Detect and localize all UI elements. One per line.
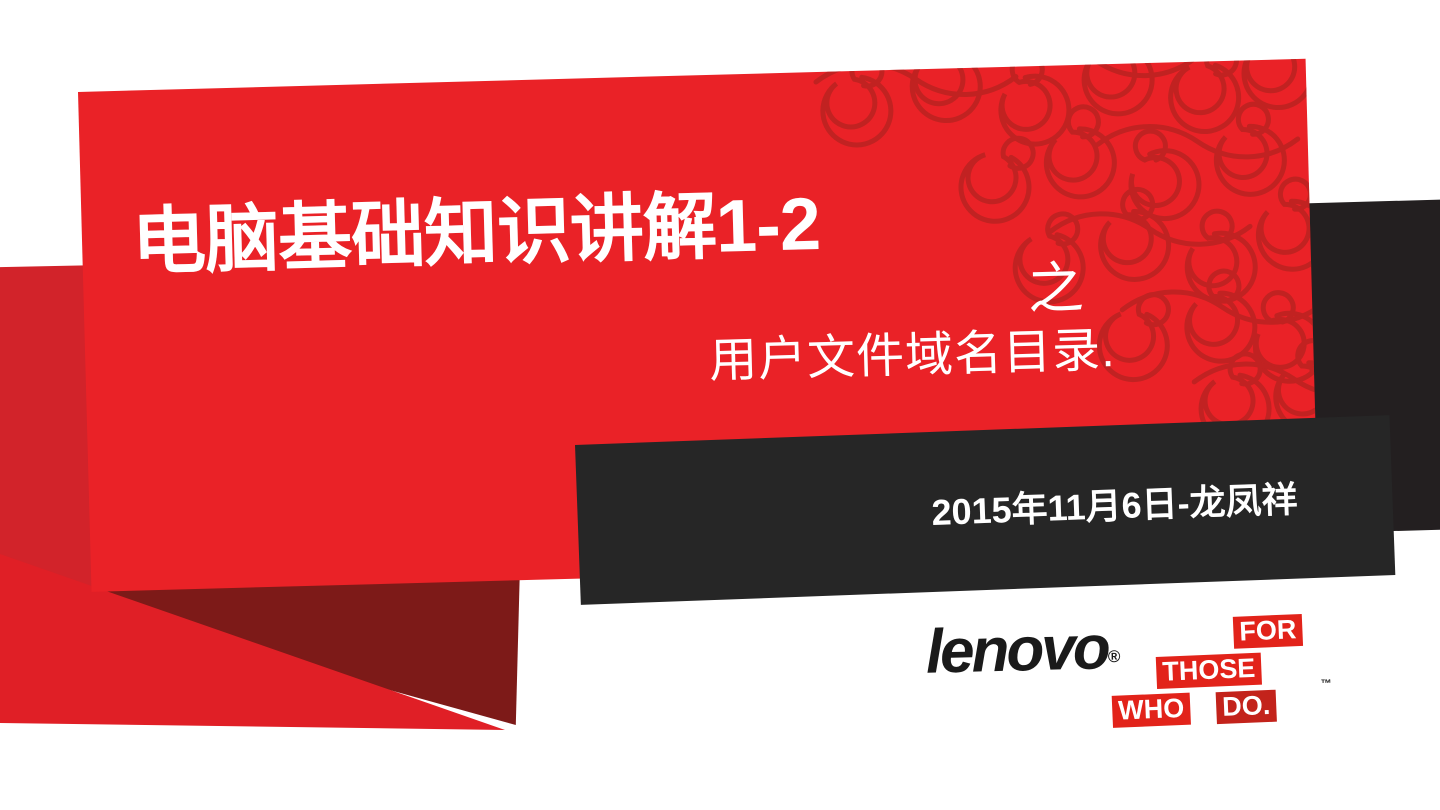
lenovo-logo: lenovo® FOR THOSE WHO DO. ™ bbox=[915, 607, 1348, 762]
tagline-do: DO. bbox=[1216, 690, 1277, 725]
date-banner bbox=[575, 415, 1395, 605]
registered-trademark-icon: ® bbox=[1108, 647, 1121, 666]
lenovo-wordmark-text: lenovo bbox=[925, 613, 1108, 686]
trademark-icon: ™ bbox=[1321, 678, 1332, 690]
tagline-who: WHO bbox=[1112, 693, 1191, 729]
tagline-for: FOR bbox=[1233, 614, 1303, 649]
cloud-spiral-pattern-icon bbox=[795, 59, 1319, 443]
presentation-slide: 电脑基础知识讲解1-2 之 用户文件域名目录. 2015年11月6日-龙凤祥 l… bbox=[0, 0, 1440, 810]
tagline-those: THOSE bbox=[1156, 653, 1262, 690]
lenovo-wordmark: lenovo® bbox=[925, 617, 1121, 684]
